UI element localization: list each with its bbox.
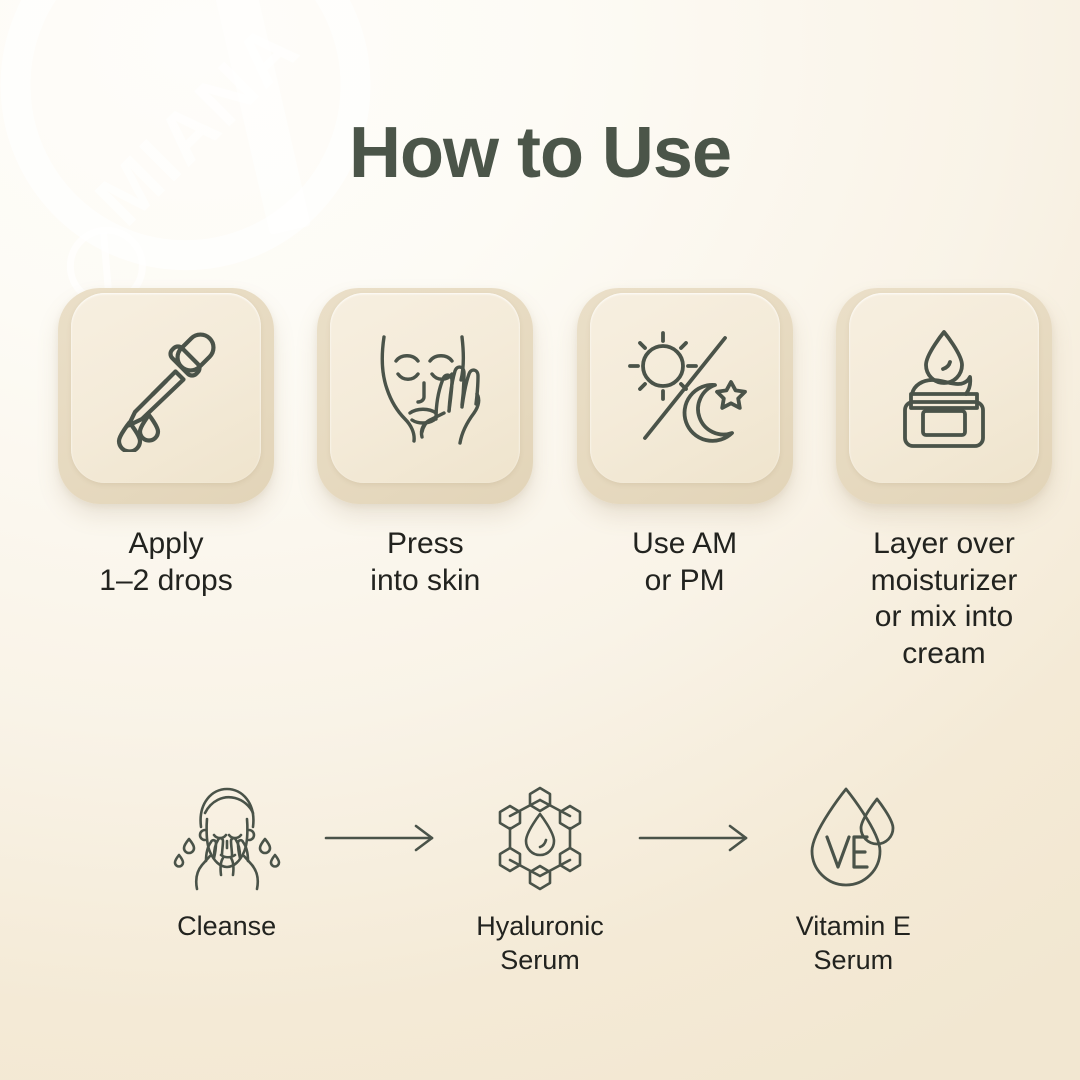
dropper-drops-icon: [102, 324, 230, 452]
routine-flow: Cleanse Hyaluronic Serum: [130, 780, 950, 978]
hyaluronic-molecule-drop-icon: [488, 780, 592, 896]
step-use-am-or-pm[interactable]: Use AM or PM: [574, 288, 796, 672]
step-tile: [590, 293, 780, 483]
step-tile: [330, 293, 520, 483]
step-tile-frame: [58, 288, 274, 504]
step-tile-frame: [317, 288, 533, 504]
step-label: Use AM or PM: [632, 526, 737, 599]
step-label: Layer over moisturizer or mix into cream: [871, 526, 1018, 672]
sun-moon-am-pm-icon: [619, 322, 751, 454]
step-tile-frame: [577, 288, 793, 504]
face-wash-icon: [169, 780, 285, 896]
step-tile-frame: [836, 288, 1052, 504]
routine-label: Cleanse: [177, 910, 276, 944]
routine-item-vitamin-e-serum[interactable]: Vitamin E Serum: [757, 780, 950, 978]
step-press-into-skin[interactable]: Press into skin: [314, 288, 536, 672]
step-apply-drops[interactable]: Apply 1–2 drops: [55, 288, 277, 672]
steps-row: Apply 1–2 drops: [55, 288, 1055, 672]
arrow-right-icon: [637, 780, 757, 896]
face-press-hand-icon: [358, 321, 492, 455]
arrow-right-icon: [323, 780, 443, 896]
step-layer-over-moisturizer[interactable]: Layer over moisturizer or mix into cream: [833, 288, 1055, 672]
step-label: Apply 1–2 drops: [99, 526, 232, 599]
step-label: Press into skin: [370, 526, 480, 599]
routine-item-cleanse[interactable]: Cleanse: [130, 780, 323, 944]
page-title: How to Use: [0, 112, 1080, 194]
step-tile: [71, 293, 261, 483]
routine-item-hyaluronic-serum[interactable]: Hyaluronic Serum: [443, 780, 636, 978]
routine-label: Hyaluronic Serum: [476, 910, 604, 978]
step-tile: [849, 293, 1039, 483]
vitamin-e-drop-icon: [805, 780, 901, 896]
routine-label: Vitamin E Serum: [796, 910, 911, 978]
cream-jar-drop-icon: [880, 324, 1008, 452]
